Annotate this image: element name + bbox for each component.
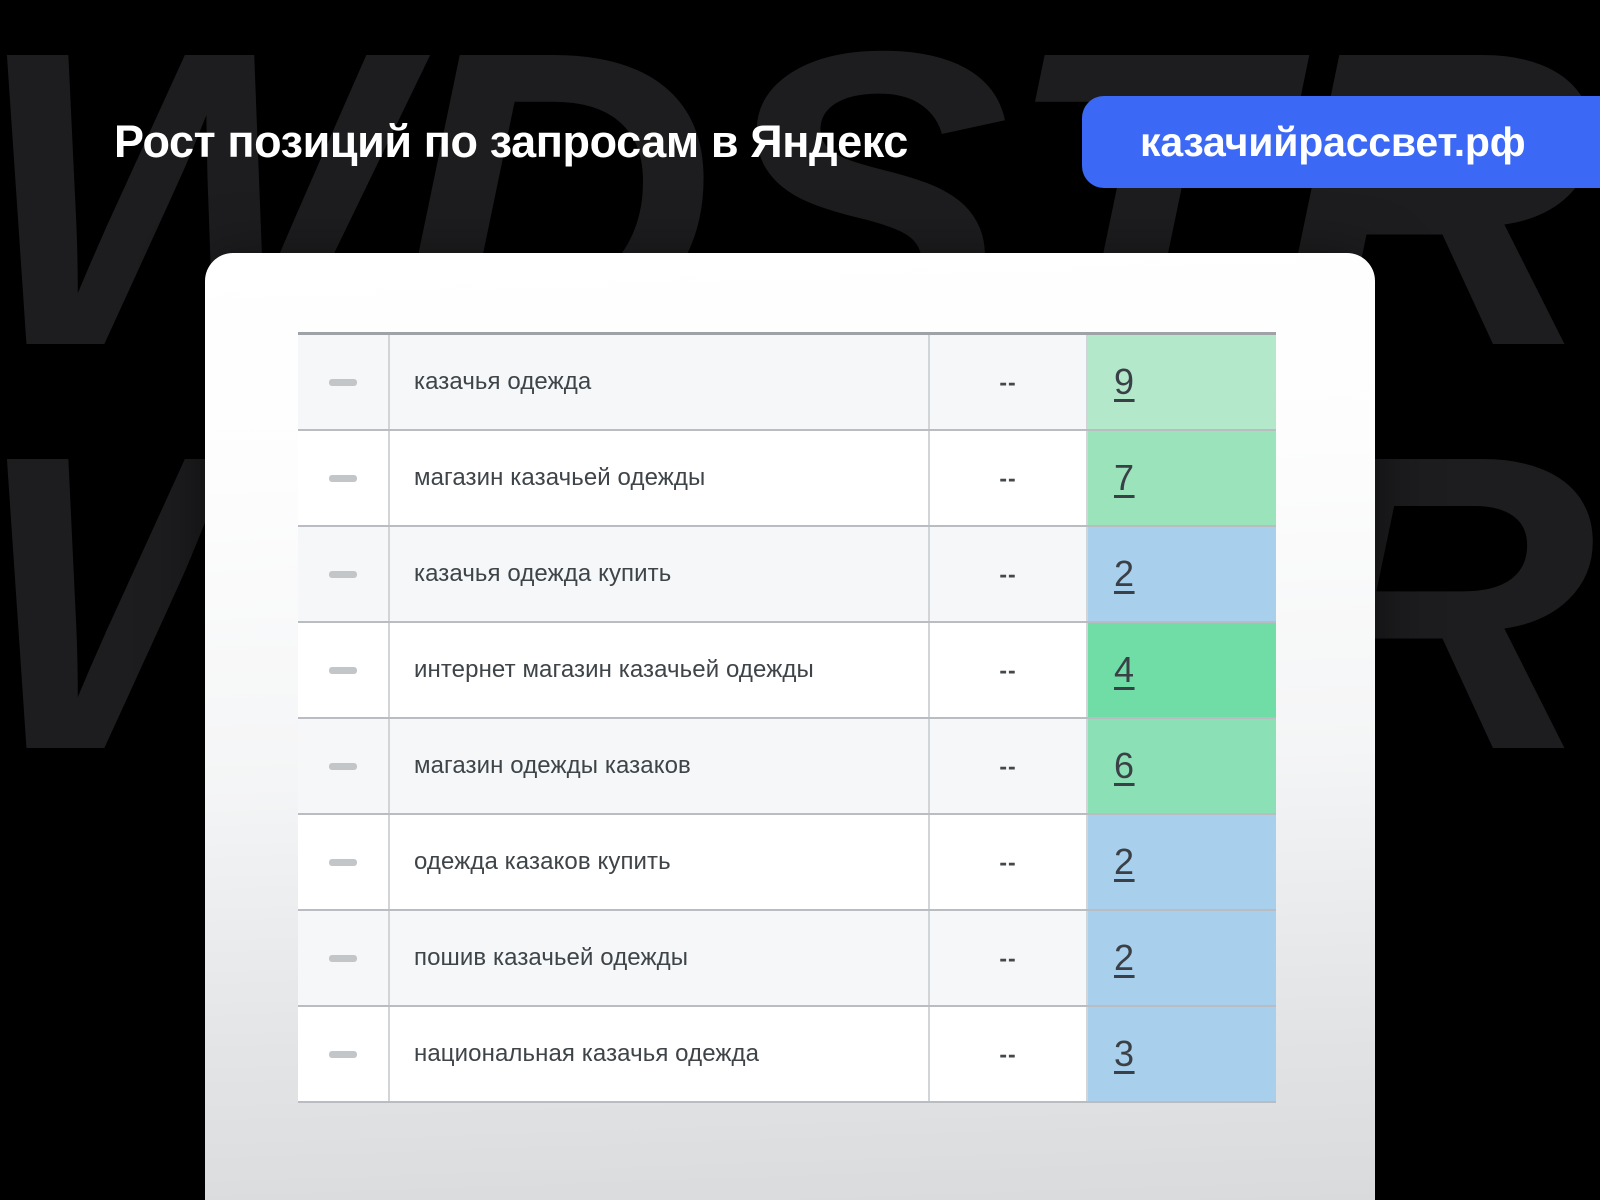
change-value: --: [999, 561, 1016, 588]
change-value: --: [999, 945, 1016, 972]
position-cell: 3: [1088, 1007, 1276, 1101]
dash-indicator-icon: [329, 1051, 357, 1058]
table-row[interactable]: магазин казачьей одежды--7: [298, 431, 1276, 527]
query-cell: пошив казачьей одежды: [390, 911, 930, 1005]
position-cell: 2: [1088, 911, 1276, 1005]
position-value[interactable]: 7: [1114, 457, 1135, 499]
position-cell: 9: [1088, 335, 1276, 429]
change-cell: --: [930, 911, 1088, 1005]
dash-indicator-icon: [329, 571, 357, 578]
row-marker-cell: [298, 815, 390, 909]
change-value: --: [999, 657, 1016, 684]
change-cell: --: [930, 335, 1088, 429]
query-cell: интернет магазин казачьей одежды: [390, 623, 930, 717]
table-row[interactable]: интернет магазин казачьей одежды--4: [298, 623, 1276, 719]
query-text: магазин одежды казаков: [414, 750, 691, 782]
positions-table: казачья одежда--9магазин казачьей одежды…: [298, 332, 1276, 1103]
position-cell: 4: [1088, 623, 1276, 717]
change-cell: --: [930, 431, 1088, 525]
change-value: --: [999, 1041, 1016, 1068]
position-cell: 7: [1088, 431, 1276, 525]
query-cell: казачья одежда: [390, 335, 930, 429]
change-cell: --: [930, 623, 1088, 717]
dash-indicator-icon: [329, 859, 357, 866]
query-cell: национальная казачья одежда: [390, 1007, 930, 1101]
screenshot-card: казачья одежда--9магазин казачьей одежды…: [205, 253, 1375, 1200]
row-marker-cell: [298, 431, 390, 525]
row-marker-cell: [298, 527, 390, 621]
change-cell: --: [930, 1007, 1088, 1101]
change-value: --: [999, 369, 1016, 396]
position-value[interactable]: 9: [1114, 361, 1135, 403]
position-value[interactable]: 2: [1114, 553, 1135, 595]
change-value: --: [999, 753, 1016, 780]
dash-indicator-icon: [329, 955, 357, 962]
table-row[interactable]: магазин одежды казаков--6: [298, 719, 1276, 815]
change-value: --: [999, 465, 1016, 492]
page-root: WDSTR WDSTR Рост позиций по запросам в Я…: [0, 0, 1600, 1200]
query-text: казачья одежда: [414, 366, 591, 398]
change-cell: --: [930, 527, 1088, 621]
change-value: --: [999, 849, 1016, 876]
query-text: национальная казачья одежда: [414, 1038, 759, 1070]
position-value[interactable]: 4: [1114, 649, 1135, 691]
table-row[interactable]: национальная казачья одежда--3: [298, 1007, 1276, 1103]
query-cell: одежда казаков купить: [390, 815, 930, 909]
position-value[interactable]: 2: [1114, 841, 1135, 883]
domain-badge[interactable]: казачийрассвет.рф: [1082, 96, 1600, 188]
query-cell: казачья одежда купить: [390, 527, 930, 621]
query-cell: магазин казачьей одежды: [390, 431, 930, 525]
dash-indicator-icon: [329, 379, 357, 386]
dash-indicator-icon: [329, 475, 357, 482]
query-text: пошив казачьей одежды: [414, 942, 688, 974]
query-text: интернет магазин казачьей одежды: [414, 654, 814, 686]
dash-indicator-icon: [329, 763, 357, 770]
position-cell: 2: [1088, 527, 1276, 621]
position-value[interactable]: 6: [1114, 745, 1135, 787]
query-text: магазин казачьей одежды: [414, 462, 705, 494]
row-marker-cell: [298, 911, 390, 1005]
domain-badge-label: казачийрассвет.рф: [1140, 119, 1525, 166]
table-row[interactable]: казачья одежда купить--2: [298, 527, 1276, 623]
row-marker-cell: [298, 719, 390, 813]
row-marker-cell: [298, 1007, 390, 1101]
change-cell: --: [930, 719, 1088, 813]
row-marker-cell: [298, 623, 390, 717]
row-marker-cell: [298, 335, 390, 429]
query-cell: магазин одежды казаков: [390, 719, 930, 813]
table-row[interactable]: пошив казачьей одежды--2: [298, 911, 1276, 1007]
position-cell: 6: [1088, 719, 1276, 813]
table-row[interactable]: одежда казаков купить--2: [298, 815, 1276, 911]
page-title: Рост позиций по запросам в Яндекс: [114, 116, 908, 168]
query-text: казачья одежда купить: [414, 558, 671, 590]
query-text: одежда казаков купить: [414, 846, 671, 878]
position-cell: 2: [1088, 815, 1276, 909]
change-cell: --: [930, 815, 1088, 909]
position-value[interactable]: 3: [1114, 1033, 1135, 1075]
table-row[interactable]: казачья одежда--9: [298, 335, 1276, 431]
position-value[interactable]: 2: [1114, 937, 1135, 979]
header-bar: Рост позиций по запросам в Яндекс казачи…: [0, 96, 1600, 188]
dash-indicator-icon: [329, 667, 357, 674]
